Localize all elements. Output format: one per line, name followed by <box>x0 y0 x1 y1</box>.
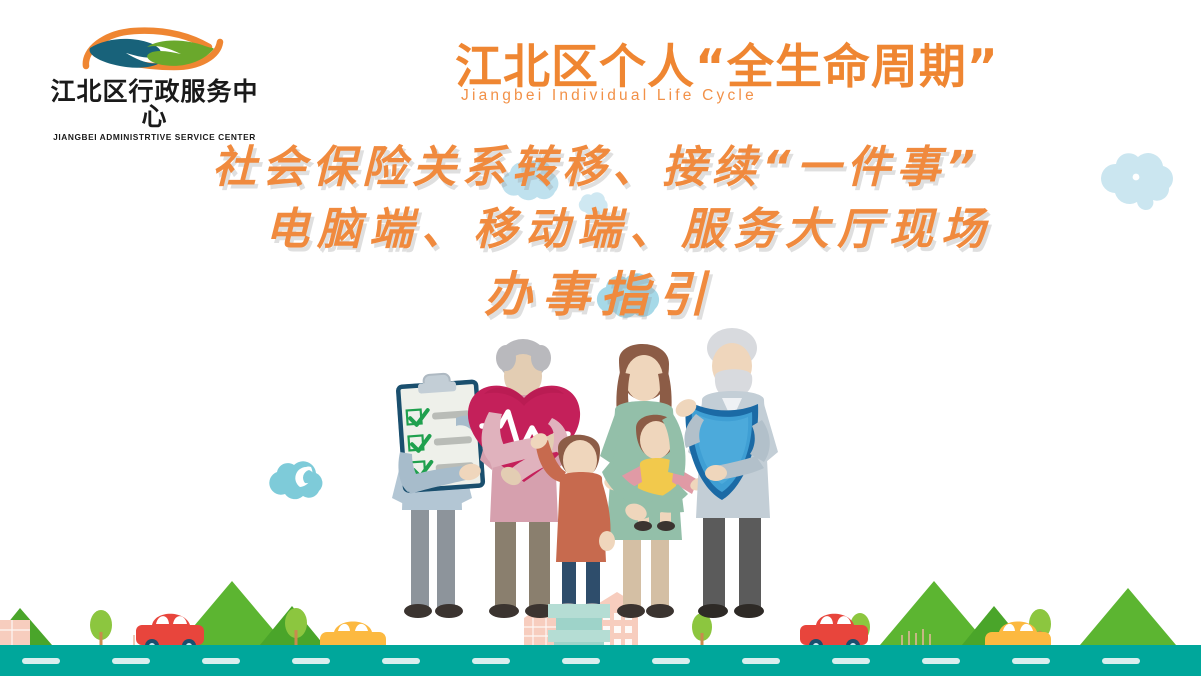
cloud-decoration-top-right <box>1086 146 1184 212</box>
road-dash <box>112 658 150 664</box>
road-dash <box>22 658 60 664</box>
figure-mother-with-baby <box>600 344 710 618</box>
road-dash <box>1012 658 1050 664</box>
road-dash <box>922 658 960 664</box>
road-dash <box>292 658 330 664</box>
road-dash <box>562 658 600 664</box>
family-illustration <box>0 300 1201 676</box>
road-dash <box>742 658 780 664</box>
subtitle-line-1: 社会保险关系转移、接续“一件事” <box>212 131 981 195</box>
subtitle-line-2: 电脑端、移动端、服务大厅现场 <box>265 193 993 257</box>
road-dash <box>382 658 420 664</box>
road-dash <box>832 658 870 664</box>
logo-hands-icon <box>74 22 229 78</box>
headline-block: 江北区个人“全生命周期” Jiangbei Individual Life Cy… <box>455 44 1095 114</box>
road-dash <box>652 658 690 664</box>
figure-elderly-man-with-shield <box>672 328 778 618</box>
road-dash <box>202 658 240 664</box>
road-strip <box>0 645 1201 676</box>
headline-english: Jiangbei Individual Life Cycle <box>461 87 757 105</box>
road-dash <box>472 658 510 664</box>
logo-chinese-name: 江北区行政服务中心 <box>42 80 267 130</box>
logo-block: 江北区行政服务中心 JIANGBEI ADMINISTRTIVE SERVICE… <box>42 22 267 142</box>
road-dash <box>1102 658 1140 664</box>
poster-canvas: 江北区行政服务中心 JIANGBEI ADMINISTRTIVE SERVICE… <box>0 0 1201 676</box>
headline-chinese: 江北区个人“全生命周期” <box>455 44 1095 91</box>
